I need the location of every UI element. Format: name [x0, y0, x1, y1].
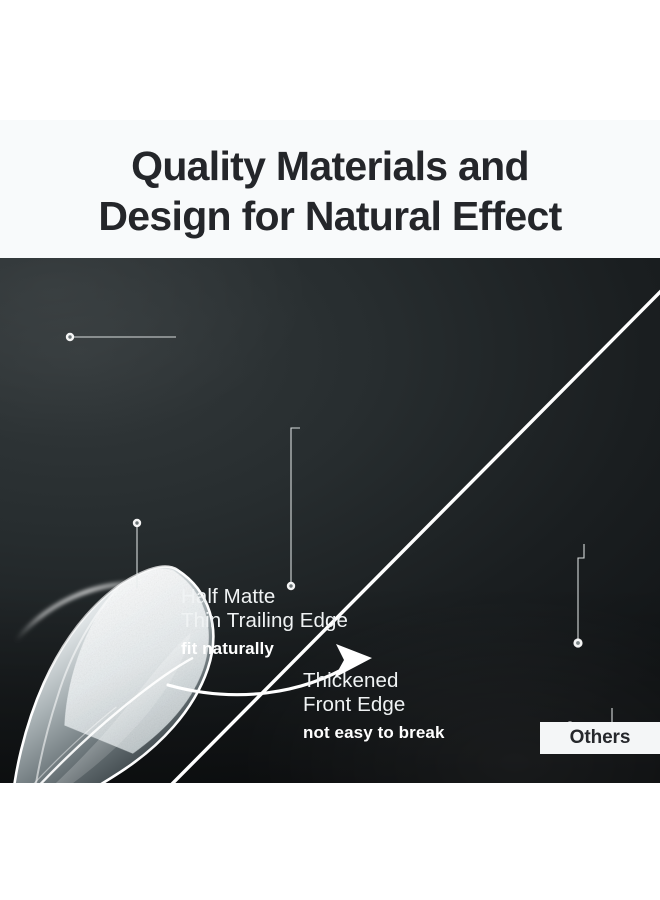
callout-front-edge-title: Thickened Front Edge	[303, 669, 445, 716]
callout-half-matte-title: Half Matte Thin Trailing Edge	[181, 585, 348, 632]
competitor-badge-others: Others	[540, 722, 660, 754]
callout-half-matte-line-2: Thin Trailing Edge	[181, 609, 348, 633]
page-title: Quality Materials and Design for Natural…	[0, 141, 660, 241]
callout-half-matte: Half Matte Thin Trailing Edge fit natura…	[181, 585, 348, 659]
product-comparison-panel: Half Matte Thin Trailing Edge fit natura…	[0, 258, 660, 783]
leader-line-front-edge	[291, 428, 300, 586]
page-title-line-1: Quality Materials and	[0, 141, 660, 191]
callout-front-edge-line-2: Front Edge	[303, 693, 445, 717]
callout-half-matte-line-1: Half Matte	[181, 585, 348, 609]
callout-thickened-front-edge: Thickened Front Edge not easy to break	[303, 669, 445, 743]
page-title-line-2: Design for Natural Effect	[0, 191, 660, 241]
callout-front-edge-line-1: Thickened	[303, 669, 445, 693]
leader-line-breaks	[578, 544, 584, 643]
infographic-page: Quality Materials and Design for Natural…	[0, 0, 660, 900]
callout-front-edge-sub: not easy to break	[303, 723, 445, 743]
competitor-badge-label: Others	[570, 727, 631, 749]
callout-half-matte-sub: fit naturally	[181, 639, 348, 659]
